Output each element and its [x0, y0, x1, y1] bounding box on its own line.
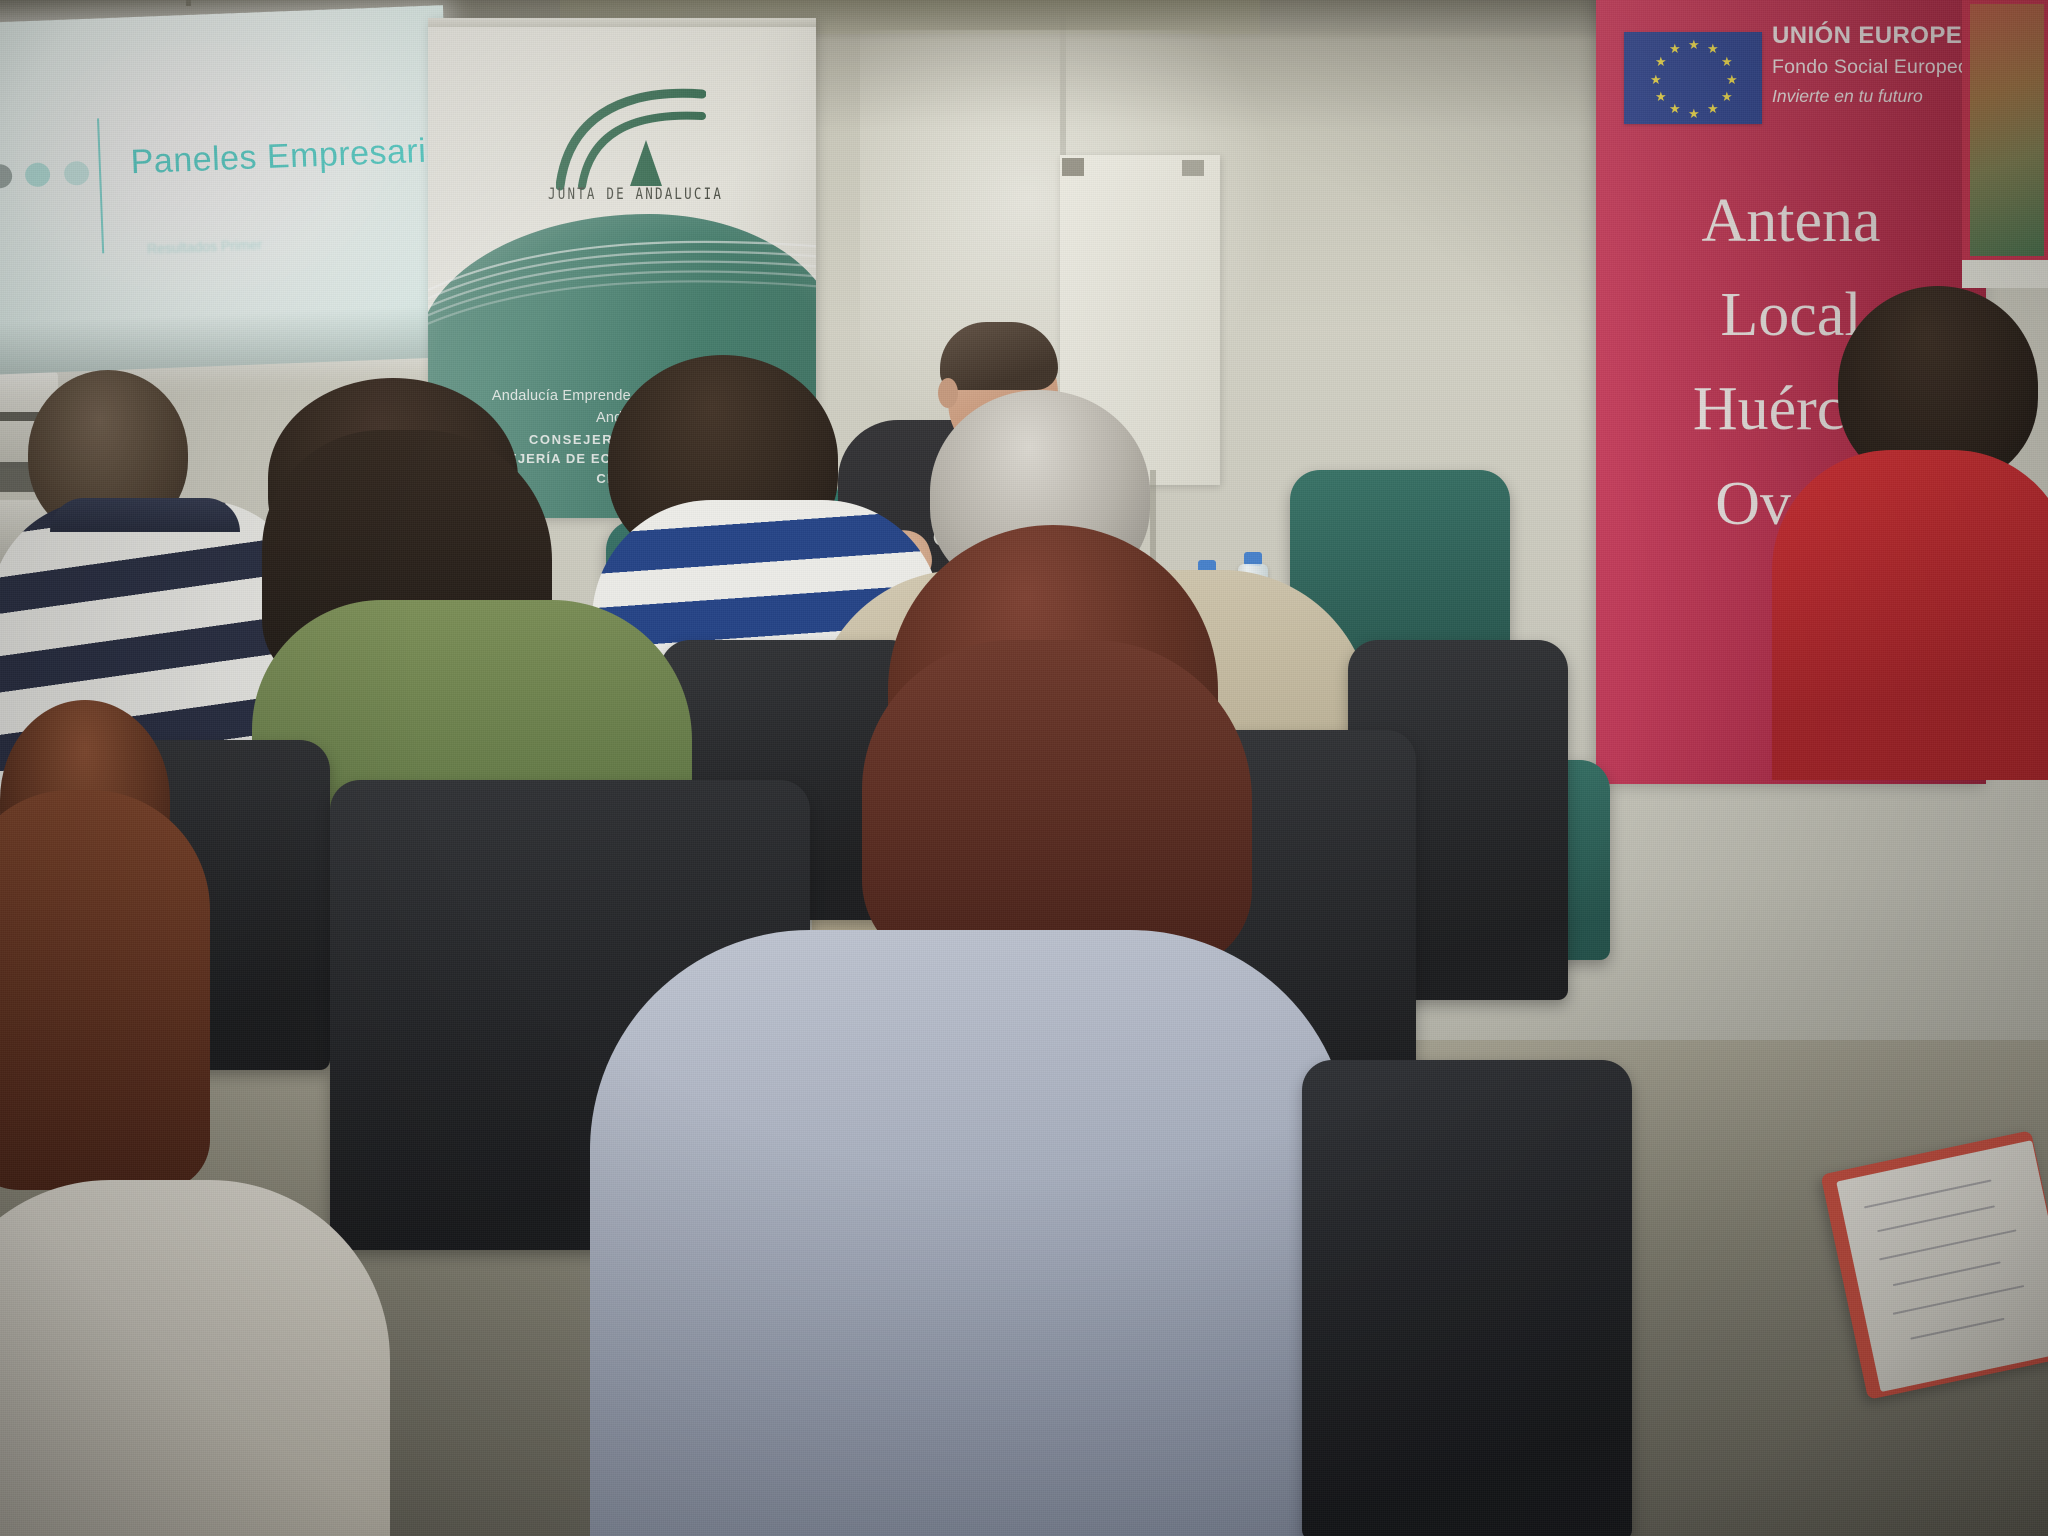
note-line-3: [1879, 1229, 2016, 1260]
note-line-2: [1877, 1205, 1995, 1232]
note-line-4: [1893, 1261, 2001, 1286]
attendee-striped-polo-collar: [50, 498, 240, 532]
banner-hook: [186, 0, 191, 6]
note-line-6: [1910, 1318, 2004, 1340]
attendee-auburn-hair-body: [590, 930, 1350, 1536]
flipchart-clip-right: [1182, 160, 1204, 176]
attendee-foreground-left-body: [0, 1180, 390, 1536]
notepad-page: [1836, 1140, 2048, 1392]
note-line-1: [1864, 1179, 1992, 1208]
projection-screen: Paneles Empresariales Resultados Primer: [0, 5, 457, 383]
note-line-5: [1893, 1285, 2024, 1315]
wall-poster: [1962, 0, 2048, 264]
flipchart-clip-left: [1062, 158, 1084, 176]
presenter-ear: [938, 378, 958, 408]
conference-room-photo: Paneles Empresariales Resultados Primer …: [0, 0, 2048, 1536]
attendee-auburn-hair-hair: [862, 640, 1252, 970]
wall-poster-caption-strip: [1962, 260, 2048, 288]
attendee-red-shirt-body: [1772, 450, 2048, 780]
presenter-hair: [940, 322, 1058, 390]
attendee-foreground-left-hair: [0, 790, 210, 1190]
screen-bottom-shadow: [0, 305, 456, 375]
chair-front-right: [1302, 1060, 1632, 1536]
projection-screen-surface: Paneles Empresariales Resultados Primer: [0, 5, 456, 375]
